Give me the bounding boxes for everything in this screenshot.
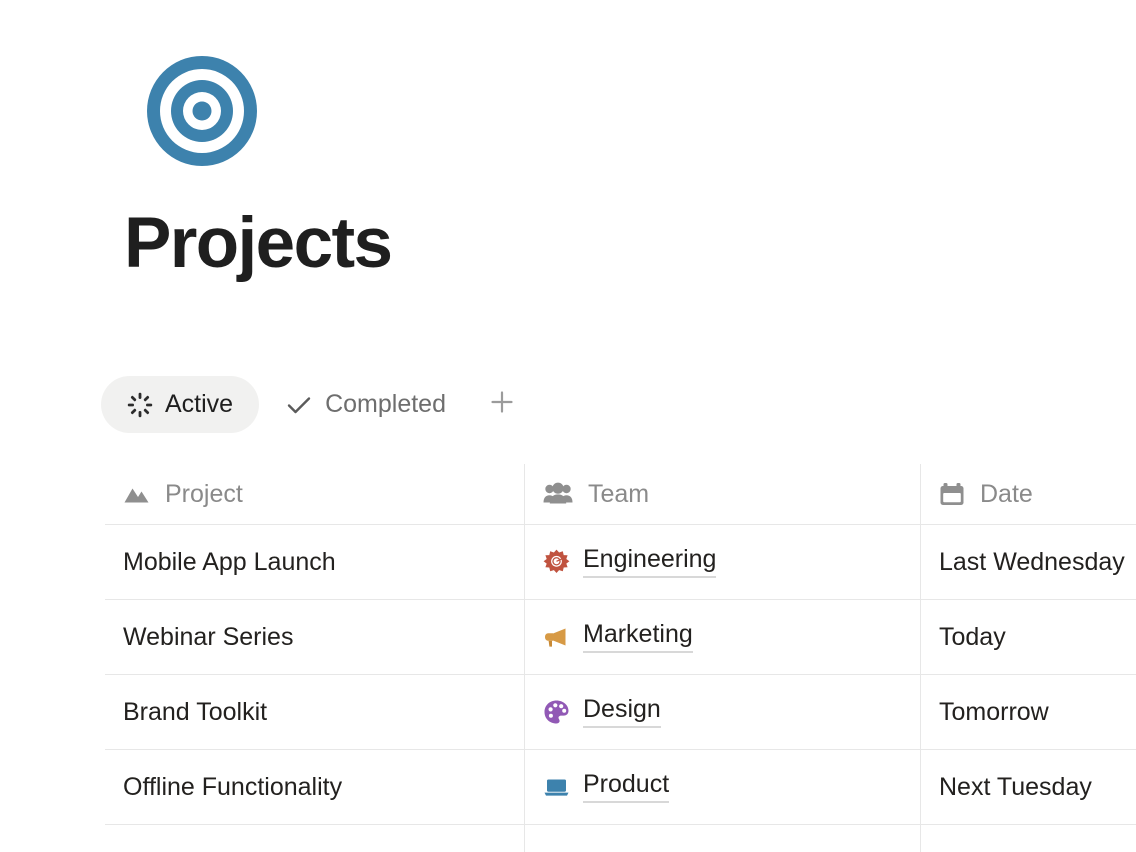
table-row[interactable]: Brand Toolkit Design (105, 675, 1136, 750)
projects-table: Project Team (105, 464, 1136, 852)
calendar-icon (939, 481, 965, 508)
cell-team[interactable]: Engineering (524, 525, 920, 599)
date-text: Next Tuesday (939, 775, 1092, 800)
team-link[interactable]: Design (583, 697, 661, 728)
table-row[interactable]: Mobile App Launch (105, 525, 1136, 600)
cell-date[interactable]: Next Tuesday (920, 750, 1136, 824)
cell-project[interactable]: Mobile App Launch (105, 525, 524, 599)
tab-active[interactable]: Active (101, 376, 259, 433)
table-row[interactable]: Offline Functionality Product Next Tuesd… (105, 750, 1136, 825)
cell-date[interactable] (920, 825, 1136, 852)
cell-date[interactable]: Last Wednesday (920, 525, 1136, 599)
projects-page: Projects Active (0, 0, 1136, 852)
target-bullseye-icon (147, 56, 257, 166)
cell-project[interactable]: Webinar Series (105, 600, 524, 674)
gear-icon (543, 549, 570, 576)
megaphone-icon (543, 624, 570, 651)
date-text: Last Wednesday (939, 550, 1125, 575)
spinner-icon (127, 392, 153, 418)
tab-completed-label: Completed (325, 392, 446, 417)
add-tab-button[interactable] (480, 383, 524, 427)
cell-team[interactable] (524, 825, 920, 852)
page-title: Projects (124, 208, 391, 279)
tab-active-label: Active (165, 392, 233, 417)
table-header-row: Project Team (105, 464, 1136, 525)
column-header-project[interactable]: Project (105, 464, 524, 524)
column-header-team[interactable]: Team (524, 464, 920, 524)
table-row[interactable]: Webinar Series Marketing Today (105, 600, 1136, 675)
cell-project[interactable]: Brand Toolkit (105, 675, 524, 749)
date-text: Today (939, 625, 1006, 650)
check-icon (285, 391, 313, 419)
column-header-date[interactable]: Date (920, 464, 1136, 524)
cell-project[interactable]: Offline Functionality (105, 750, 524, 824)
date-text: Tomorrow (939, 700, 1049, 725)
project-name: Webinar Series (123, 625, 293, 650)
team-link[interactable]: Marketing (583, 622, 693, 653)
laptop-icon (543, 774, 570, 801)
table-row[interactable] (105, 825, 1136, 852)
cell-team[interactable]: Marketing (524, 600, 920, 674)
table-header: Project Team (105, 464, 1136, 525)
tab-bar: Active Completed (101, 376, 524, 433)
cell-date[interactable]: Tomorrow (920, 675, 1136, 749)
app-logo (147, 56, 257, 166)
palette-icon (543, 699, 570, 726)
team-link[interactable]: Engineering (583, 547, 716, 578)
column-header-team-label: Team (588, 482, 649, 507)
team-link[interactable]: Product (583, 772, 669, 803)
cell-team[interactable]: Product (524, 750, 920, 824)
table-body: Mobile App Launch (105, 525, 1136, 852)
people-group-icon (543, 481, 573, 508)
column-header-date-label: Date (980, 482, 1033, 507)
mountains-icon (123, 481, 150, 508)
project-name: Mobile App Launch (123, 550, 336, 575)
project-name: Offline Functionality (123, 775, 342, 800)
project-name: Brand Toolkit (123, 700, 267, 725)
tab-completed[interactable]: Completed (259, 376, 472, 433)
plus-icon (488, 388, 516, 421)
cell-date[interactable]: Today (920, 600, 1136, 674)
column-header-project-label: Project (165, 482, 243, 507)
cell-team[interactable]: Design (524, 675, 920, 749)
cell-project[interactable] (105, 825, 524, 852)
